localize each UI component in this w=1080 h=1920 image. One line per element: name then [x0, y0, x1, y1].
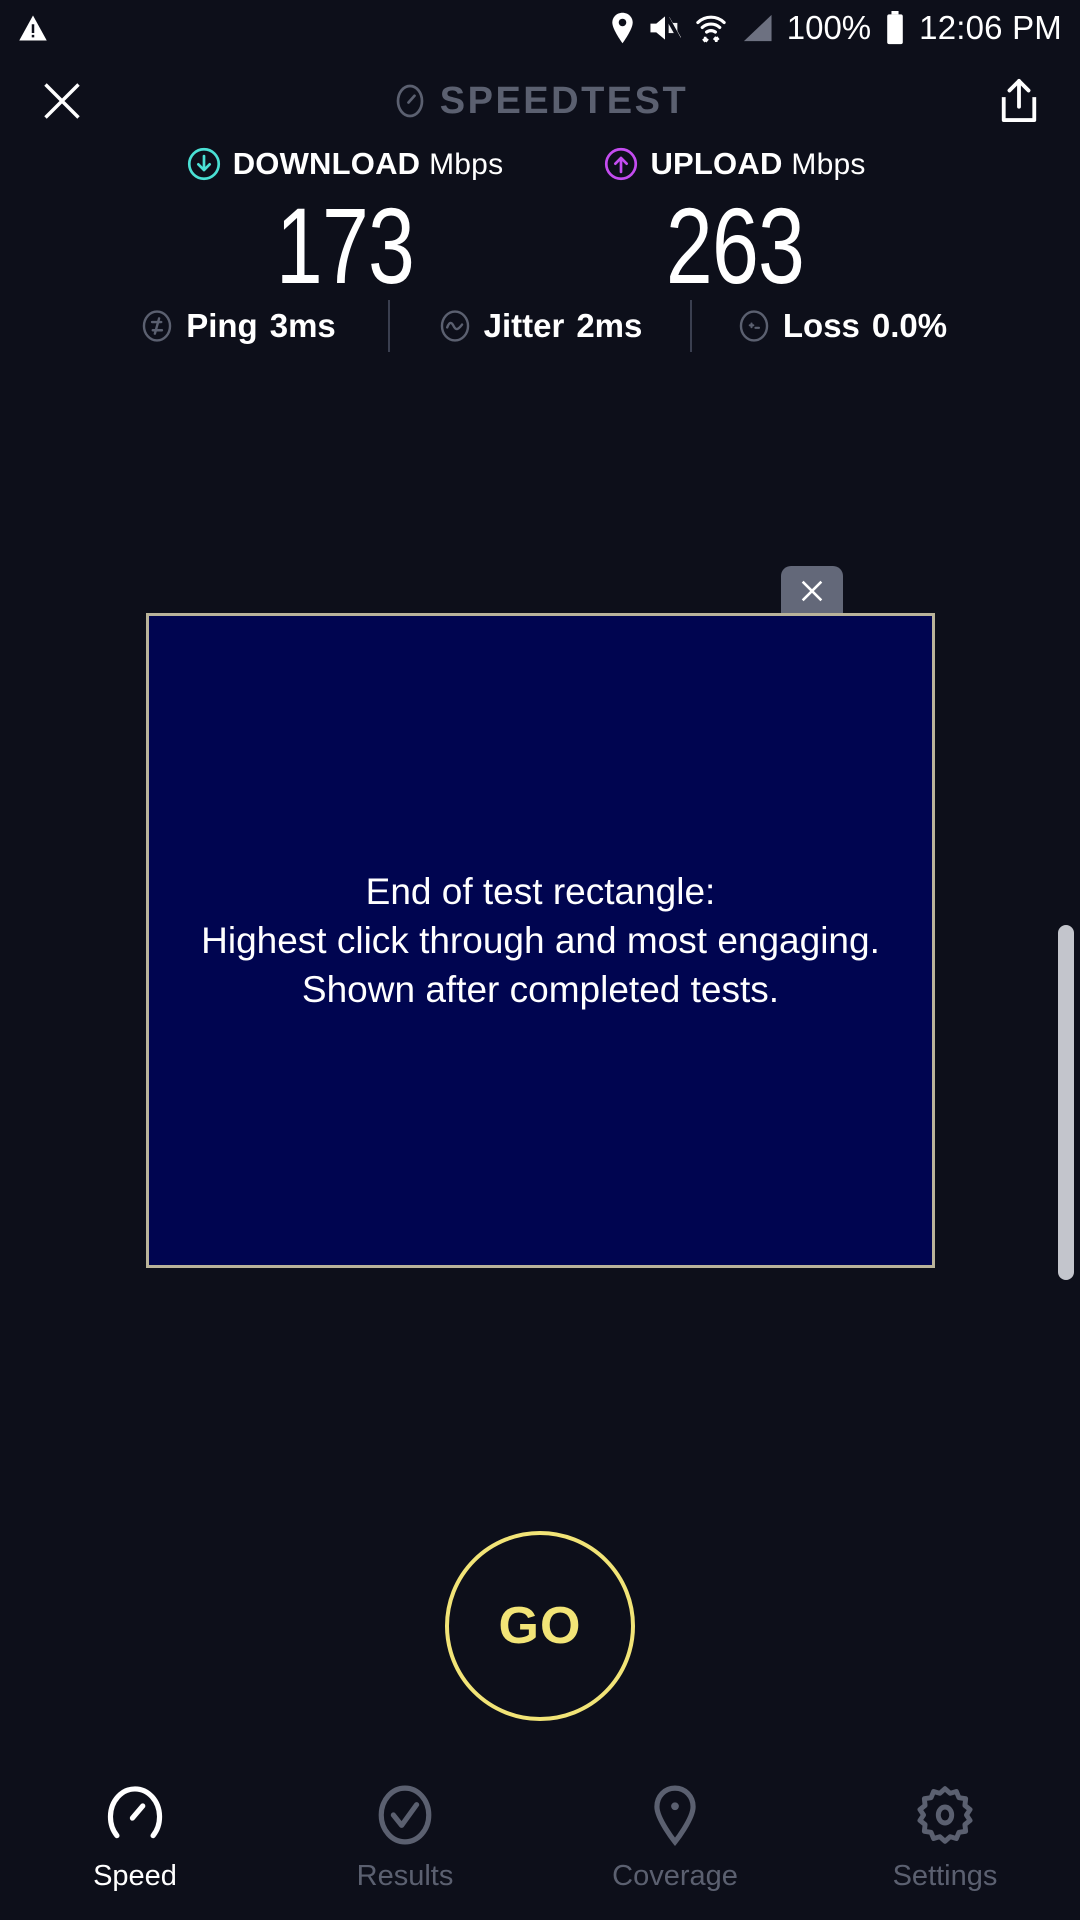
mute-icon — [649, 13, 681, 43]
jitter-icon — [438, 309, 472, 343]
loss-icon — [737, 309, 771, 343]
nav-item-results-label: Results — [357, 1860, 454, 1893]
advertisement-banner[interactable]: End of test rectangle: Highest click thr… — [146, 613, 935, 1268]
advertisement-container: End of test rectangle: Highest click thr… — [146, 613, 935, 1268]
close-icon[interactable] — [40, 79, 84, 123]
network-metrics-row: Ping 3ms Jitter 2ms Los — [0, 300, 1080, 352]
download-label-group: DOWNLOAD Mbps — [180, 142, 510, 186]
ad-line-3: Shown after completed tests. — [201, 965, 880, 1014]
go-button-label: GO — [499, 1596, 582, 1656]
metric-loss: Loss 0.0% — [692, 307, 992, 345]
speedtest-app-screen: 100% 12:06 PM SPEEDTEST — [0, 0, 1080, 1920]
status-bar-right: 100% 12:06 PM — [610, 9, 1062, 47]
nav-item-settings[interactable]: Settings — [810, 1784, 1080, 1893]
map-pin-icon — [644, 1784, 706, 1846]
nav-item-coverage-label: Coverage — [612, 1860, 738, 1893]
ad-line-1: End of test rectangle: — [201, 867, 880, 916]
upload-result: UPLOAD Mbps 263 — [570, 142, 900, 300]
page-title: SPEEDTEST — [440, 80, 688, 123]
status-bar-left — [18, 14, 48, 42]
speedometer-icon — [104, 1784, 166, 1846]
advertisement-text: End of test rectangle: Highest click thr… — [191, 867, 890, 1015]
bottom-navigation: Speed Results Coverage — [0, 1770, 1080, 1920]
battery-percent-label: 100% — [787, 9, 871, 47]
ping-icon — [140, 309, 174, 343]
speed-values-row: DOWNLOAD Mbps 173 UPLOAD Mbps 263 — [0, 142, 1080, 300]
metric-jitter-label: Jitter — [484, 307, 565, 345]
clock-label: 12:06 PM — [919, 9, 1062, 47]
gear-icon — [914, 1784, 976, 1846]
nav-item-settings-label: Settings — [893, 1860, 998, 1893]
nav-item-results[interactable]: Results — [270, 1784, 540, 1893]
share-icon[interactable] — [998, 78, 1040, 124]
test-results: DOWNLOAD Mbps 173 UPLOAD Mbps 263 — [0, 142, 1080, 300]
ad-line-2: Highest click through and most engaging. — [201, 916, 880, 965]
warning-triangle-icon — [18, 14, 48, 42]
nav-item-speed-label: Speed — [93, 1860, 177, 1893]
nav-item-speed[interactable]: Speed — [0, 1784, 270, 1893]
check-circle-icon — [374, 1784, 436, 1846]
close-icon — [798, 577, 826, 605]
metric-ping-value: 3ms — [270, 307, 336, 345]
wifi-icon — [695, 12, 727, 44]
app-title-group: SPEEDTEST — [0, 80, 1080, 123]
speedometer-icon — [392, 83, 428, 119]
status-bar: 100% 12:06 PM — [0, 0, 1080, 55]
upload-label: UPLOAD Mbps — [650, 146, 865, 182]
ad-close-button[interactable] — [781, 566, 843, 616]
upload-value: 263 — [606, 192, 863, 300]
upload-label-group: UPLOAD Mbps — [570, 142, 900, 186]
battery-full-icon — [885, 11, 905, 45]
metric-ping-label: Ping — [186, 307, 258, 345]
arrow-up-circle-icon — [604, 147, 638, 181]
app-header: SPEEDTEST — [0, 55, 1080, 147]
arrow-down-circle-icon — [187, 147, 221, 181]
download-value: 173 — [216, 192, 473, 300]
vertical-scrollbar[interactable] — [1058, 925, 1074, 1280]
cellular-signal-icon — [741, 13, 773, 43]
nav-item-coverage[interactable]: Coverage — [540, 1784, 810, 1893]
metric-loss-value: 0.0% — [872, 307, 947, 345]
download-result: DOWNLOAD Mbps 173 — [180, 142, 510, 300]
location-pin-icon — [610, 12, 635, 44]
metric-ping: Ping 3ms — [88, 307, 388, 345]
go-button[interactable]: GO — [445, 1531, 635, 1721]
metric-loss-label: Loss — [783, 307, 860, 345]
metric-jitter: Jitter 2ms — [390, 307, 690, 345]
download-label: DOWNLOAD Mbps — [233, 146, 504, 182]
metric-jitter-value: 2ms — [576, 307, 642, 345]
